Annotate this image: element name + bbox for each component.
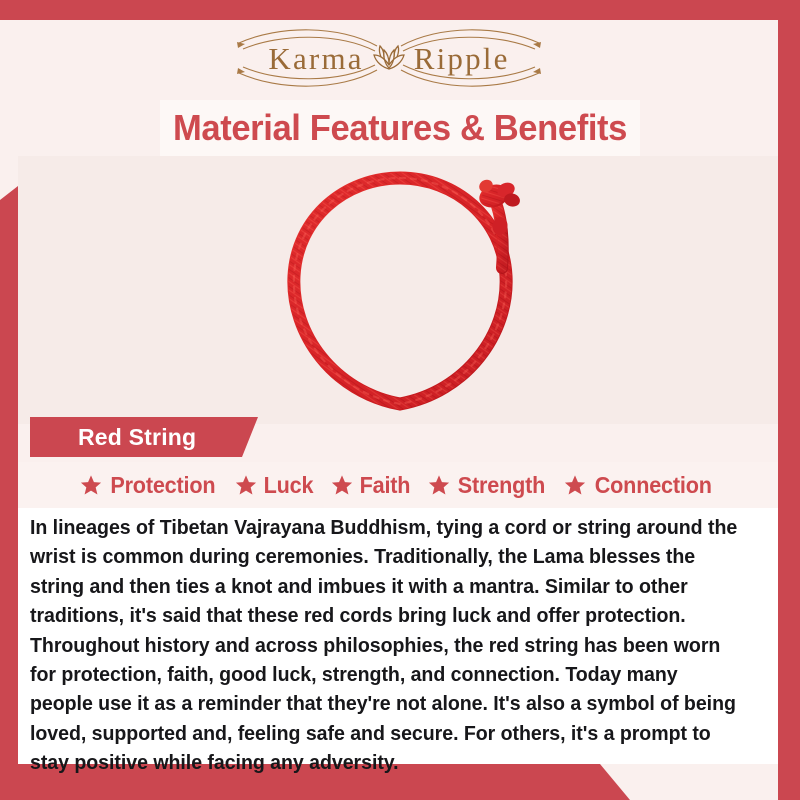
star-icon: [80, 474, 102, 496]
description-panel: In lineages of Tibetan Vajrayana Buddhis…: [18, 508, 778, 764]
benefit-label: Protection: [111, 472, 216, 499]
brand-logo: Karma Ripple: [0, 22, 778, 94]
product-image: [18, 156, 778, 424]
benefit-label: Faith: [360, 472, 411, 499]
top-red-border: [0, 0, 800, 20]
right-red-border: [778, 0, 800, 800]
benefit-item: Faith: [324, 472, 419, 499]
benefit-label: Luck: [264, 472, 314, 499]
benefit-label: Connection: [595, 472, 712, 499]
page-title: Material Features & Benefits: [170, 100, 631, 156]
star-icon: [564, 474, 586, 496]
star-icon: [331, 474, 353, 496]
infographic-page: Karma Ripple Material Features & Benefit…: [0, 0, 800, 800]
benefit-label: Strength: [458, 472, 545, 499]
red-string-bracelet-icon: [250, 156, 550, 424]
left-red-accent-bar: [0, 186, 18, 800]
benefit-item: Connection: [557, 472, 723, 499]
lotus-icon: [370, 43, 408, 73]
section-label-text: Red String: [30, 424, 196, 451]
description-paragraph: In lineages of Tibetan Vajrayana Buddhis…: [30, 514, 738, 779]
benefit-item: Strength: [421, 472, 555, 499]
star-icon: [428, 474, 450, 496]
logo-word-right: Ripple: [414, 43, 510, 74]
section-label-ribbon: Red String: [30, 417, 258, 457]
star-icon: [235, 474, 257, 496]
benefit-item: Luck: [228, 472, 322, 499]
benefits-list: Protection Luck Faith Strength Connectio: [18, 462, 778, 508]
benefit-item: Protection: [73, 472, 226, 499]
logo-word-left: Karma: [268, 43, 363, 74]
